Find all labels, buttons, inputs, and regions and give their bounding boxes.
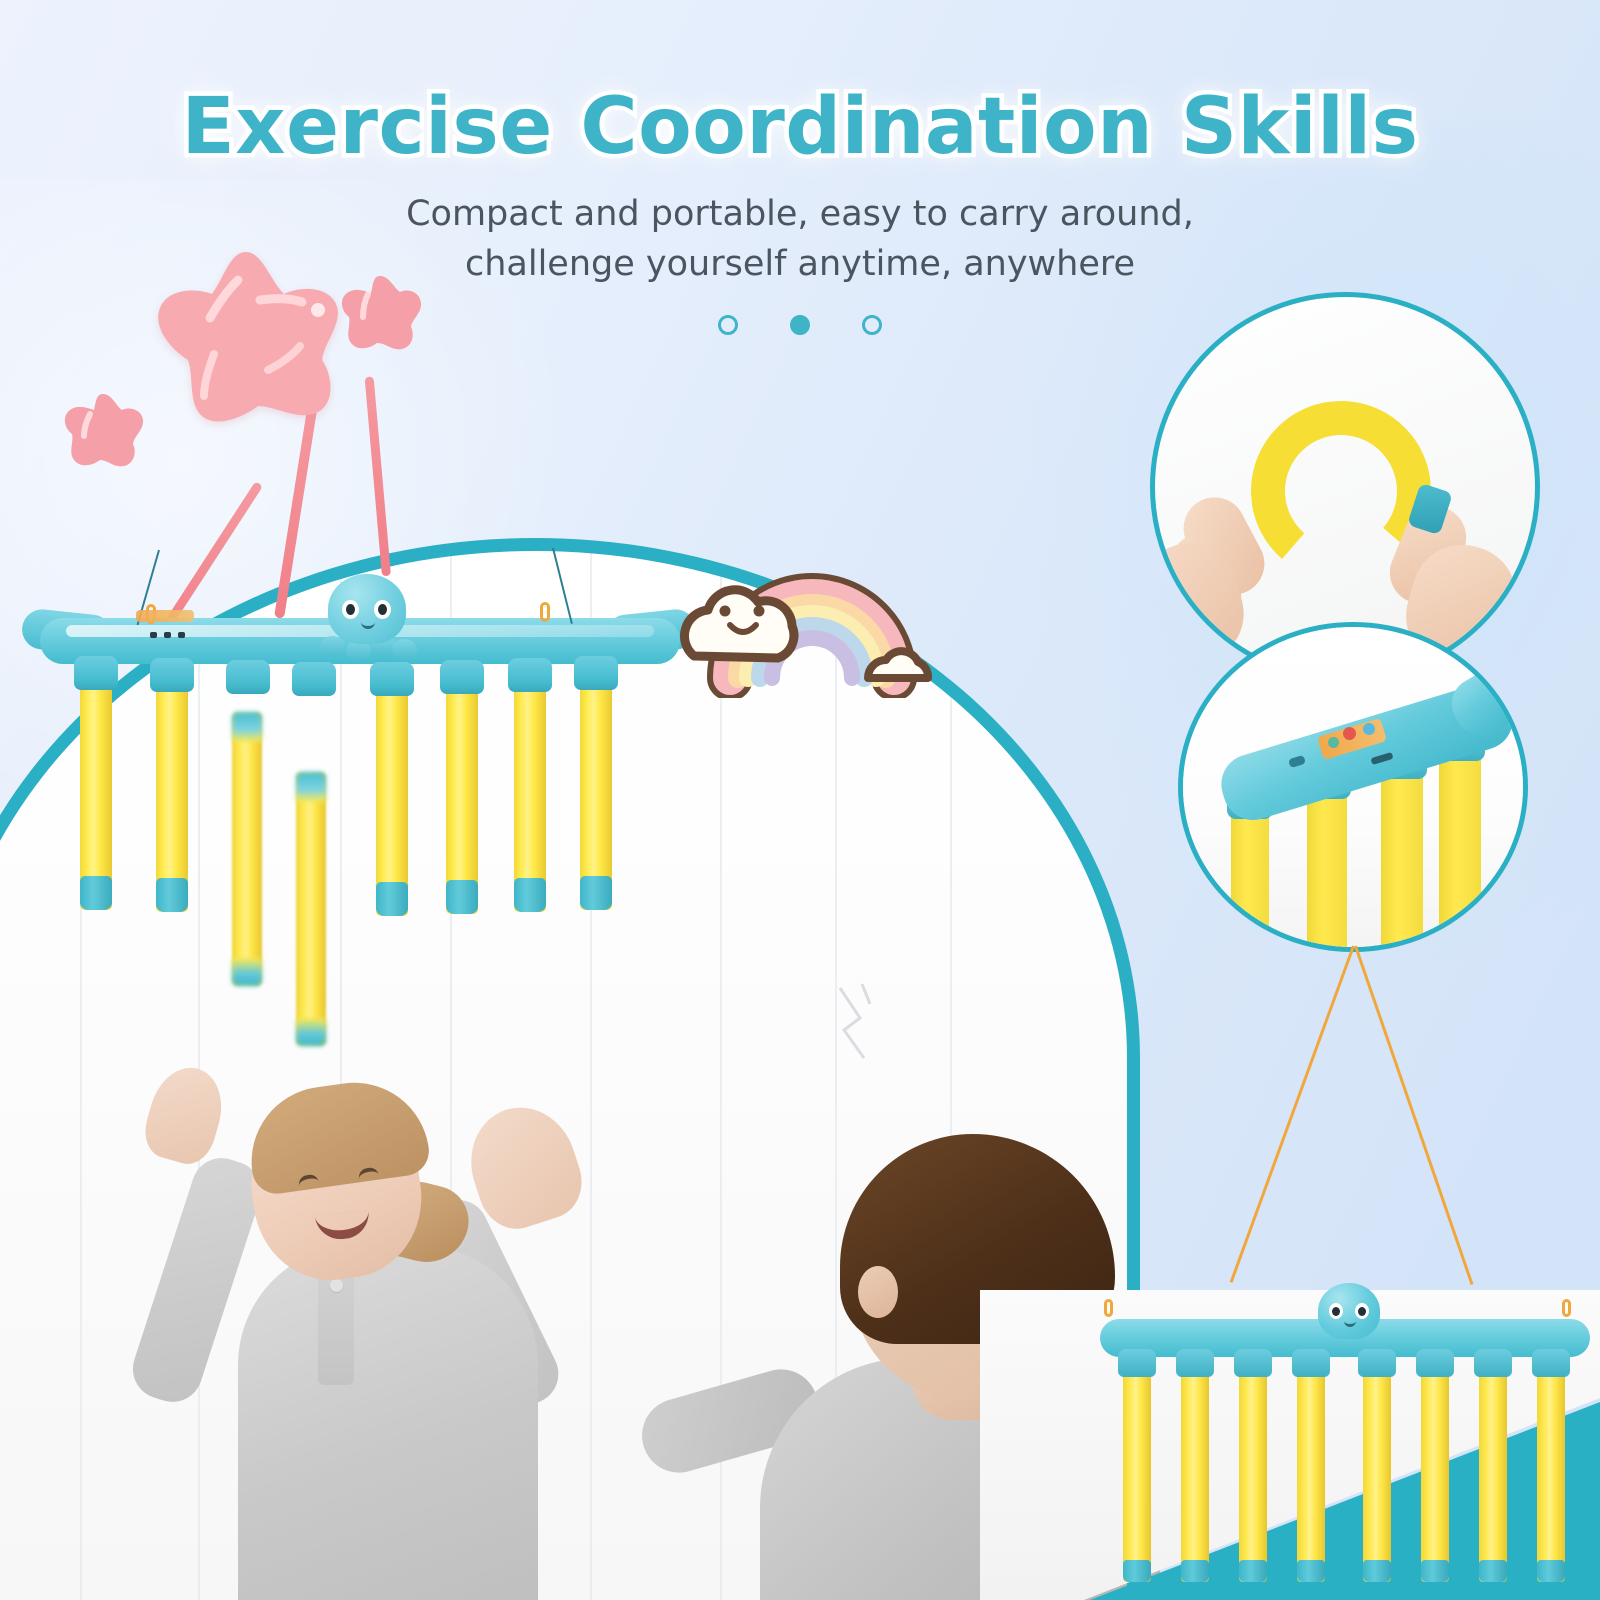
- product-stick-bottom: [1239, 1367, 1267, 1582]
- product-stick: [376, 684, 408, 916]
- product-stick-bottom: [1479, 1367, 1507, 1582]
- star-trail-right: [365, 376, 391, 576]
- stick-socket-bottom: [1292, 1349, 1330, 1377]
- stick-socket: [440, 660, 484, 694]
- inset-control-panel: [1178, 622, 1528, 952]
- girl-torso: [238, 1245, 538, 1600]
- product-bottom-view: [1090, 1275, 1600, 1600]
- pagination-dot-3[interactable]: [862, 315, 882, 335]
- big-pink-star-icon: [142, 246, 350, 436]
- octopus-eye-right: [374, 600, 391, 619]
- control-panel-chip: [136, 610, 194, 622]
- product-stick-bottom: [1363, 1367, 1391, 1582]
- falling-stick-1: [232, 712, 262, 986]
- boy-ear: [858, 1266, 898, 1318]
- cord-clip-bottom-right: [1562, 1299, 1571, 1317]
- small-pink-flower-right-icon: [336, 272, 424, 358]
- octopus-mascot-head-bottom: [1318, 1283, 1380, 1339]
- octopus-mascot-head: [328, 574, 406, 644]
- pagination-dot-2-active[interactable]: [790, 315, 810, 335]
- stick-socket-bottom: [1416, 1349, 1454, 1377]
- inset-stick: [1439, 747, 1481, 952]
- product-stick: [580, 678, 612, 910]
- product-stick: [446, 682, 478, 914]
- cord-clip-right: [540, 602, 550, 622]
- octopus-mouth: [361, 622, 375, 629]
- cloud-rainbow-decoration: [672, 528, 962, 698]
- product-stick-bottom: [1537, 1367, 1565, 1582]
- speaker-grille-icon: [150, 632, 192, 638]
- subtitle-line-1: Compact and portable, easy to carry arou…: [0, 190, 1600, 240]
- product-stick-bottom: [1421, 1367, 1449, 1582]
- stick-socket-bottom: [1532, 1349, 1570, 1377]
- stick-socket-bottom: [1358, 1349, 1396, 1377]
- product-stick: [80, 678, 112, 910]
- girl-shirt-button: [330, 1279, 343, 1292]
- stick-socket-bottom: [1118, 1349, 1156, 1377]
- stick-socket-bottom: [1176, 1349, 1214, 1377]
- wall-scribble-icon: [830, 978, 900, 1068]
- octopus-eye-left: [342, 600, 359, 619]
- product-stick: [514, 680, 546, 912]
- product-stick-bottom: [1297, 1367, 1325, 1582]
- pagination-dot-1[interactable]: [718, 315, 738, 335]
- stick-socket: [574, 656, 618, 690]
- falling-stick-2: [296, 772, 326, 1046]
- banner-stage: Exercise Coordination Skills Compact and…: [0, 0, 1600, 1600]
- stick-socket-bottom: [1234, 1349, 1272, 1377]
- product-stick: [156, 680, 188, 912]
- product-stick-bottom: [1123, 1367, 1151, 1582]
- stick-socket: [150, 658, 194, 692]
- stick-socket: [74, 656, 118, 690]
- inset-stick: [1231, 803, 1269, 952]
- product-main-view: [40, 560, 720, 1060]
- cord-clip-bottom-left: [1104, 1299, 1113, 1317]
- stick-socket: [370, 662, 414, 696]
- connector-cord-right: [1354, 946, 1473, 1285]
- page-title: Exercise Coordination Skills: [0, 82, 1600, 172]
- small-pink-flower-left-icon: [60, 390, 146, 474]
- inset-stick: [1307, 783, 1347, 952]
- girl-left-hand: [138, 1059, 231, 1170]
- stick-socket: [292, 662, 336, 696]
- girl-reaching-up: [120, 1035, 600, 1600]
- smiling-cloud-icon: [684, 590, 793, 658]
- product-stick-bottom: [1181, 1367, 1209, 1582]
- hanging-cord-right: [552, 548, 573, 624]
- inset-stick: [1381, 765, 1423, 952]
- stick-socket: [508, 658, 552, 692]
- connector-cord-left: [1230, 945, 1355, 1282]
- stick-socket: [226, 660, 270, 694]
- stick-socket-bottom: [1474, 1349, 1512, 1377]
